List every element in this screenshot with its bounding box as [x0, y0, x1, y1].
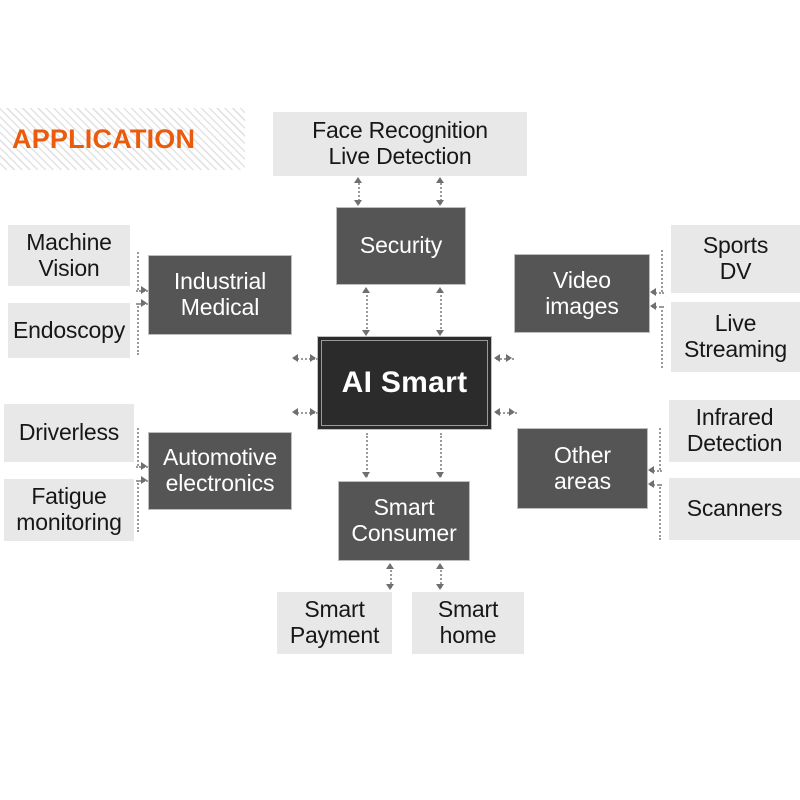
connector-arrow-consumer-payment-down [386, 584, 394, 590]
connector-arrow-video-core [494, 354, 500, 362]
hub-node-smart-consumer[interactable]: Smart Consumer [338, 481, 470, 561]
connector-arrow-automotive-fatigue [141, 476, 147, 484]
hub-node-industrial-medical[interactable]: Industrial Medical [148, 255, 292, 335]
leaf-node-infrared-detection[interactable]: Infrared Detection [669, 400, 800, 462]
connector-core-security-b [440, 291, 442, 333]
connector-arrow-other-infrared [648, 466, 654, 474]
leaf-node-live-streaming[interactable]: Live Streaming [671, 302, 800, 372]
connector-arrow-core-security-c [436, 287, 444, 293]
connector-arrow-industrial-core [310, 354, 316, 362]
hub-node-other-areas[interactable]: Other areas [517, 428, 648, 509]
connector-arrow-core-other [509, 408, 515, 416]
connector-automotive-fatigue-vert [137, 480, 139, 532]
leaf-node-machine-vision[interactable]: Machine Vision [8, 225, 130, 286]
hub-node-security[interactable]: Security [336, 207, 466, 285]
application-diagram: APPLICATION AI Smart Security Video imag… [0, 0, 800, 800]
connector-arrow-video-live [650, 302, 656, 310]
connector-arrow-core-automotive [292, 408, 298, 416]
connector-arrow-security-face-c [436, 177, 444, 183]
leaf-node-driverless[interactable]: Driverless [4, 404, 134, 462]
connector-arrow-security-face-b [354, 200, 362, 206]
leaf-node-face-recognition[interactable]: Face Recognition Live Detection [273, 112, 527, 176]
connector-industrial-machine-vert [137, 252, 139, 290]
connector-other-scanners-vert [659, 484, 661, 540]
connector-video-live-vert [661, 306, 663, 368]
connector-core-security-a [366, 291, 368, 333]
connector-arrow-other-core [494, 408, 500, 416]
connector-arrow-consumer-home-down [436, 584, 444, 590]
connector-arrow-security-face-a [354, 177, 362, 183]
leaf-node-endoscopy[interactable]: Endoscopy [8, 303, 130, 358]
leaf-node-smart-home[interactable]: Smart home [412, 592, 524, 654]
connector-core-consumer-a [366, 433, 368, 477]
connector-arrow-automotive-driverless [141, 462, 147, 470]
hub-node-video-images[interactable]: Video images [514, 254, 650, 333]
connector-arrow-consumer-home-up [436, 563, 444, 569]
connector-core-consumer-b [440, 433, 442, 477]
connector-arrow-core-security-b [362, 330, 370, 336]
connector-arrow-other-scanners [648, 480, 654, 488]
connector-video-sports-vert [661, 250, 663, 292]
connector-arrow-automotive-core [310, 408, 316, 416]
connector-arrow-core-consumer-b [436, 472, 444, 478]
leaf-node-sports-dv[interactable]: Sports DV [671, 225, 800, 293]
connector-arrow-video-sports [650, 288, 656, 296]
core-node-ai-smart[interactable]: AI Smart [317, 336, 492, 430]
connector-arrow-industrial-endoscopy [141, 299, 147, 307]
connector-arrow-industrial-machine [141, 286, 147, 294]
connector-arrow-core-industrial [292, 354, 298, 362]
leaf-node-smart-payment[interactable]: Smart Payment [277, 592, 392, 654]
connector-arrow-core-security-a [362, 287, 370, 293]
leaf-node-scanners[interactable]: Scanners [669, 478, 800, 540]
connector-arrow-core-video [506, 354, 512, 362]
connector-other-infrared-vert [659, 428, 661, 470]
hub-node-automotive-electronics[interactable]: Automotive electronics [148, 432, 292, 510]
page-title: APPLICATION [0, 126, 195, 153]
connector-arrow-security-face-d [436, 200, 444, 206]
connector-arrow-core-security-d [436, 330, 444, 336]
connector-arrow-core-consumer-a [362, 472, 370, 478]
connector-automotive-driverless-vert [137, 428, 139, 466]
application-header-band: APPLICATION [0, 108, 245, 170]
leaf-node-fatigue-monitoring[interactable]: Fatigue monitoring [4, 479, 134, 541]
connector-industrial-endoscopy-vert [137, 303, 139, 355]
connector-arrow-consumer-payment-up [386, 563, 394, 569]
